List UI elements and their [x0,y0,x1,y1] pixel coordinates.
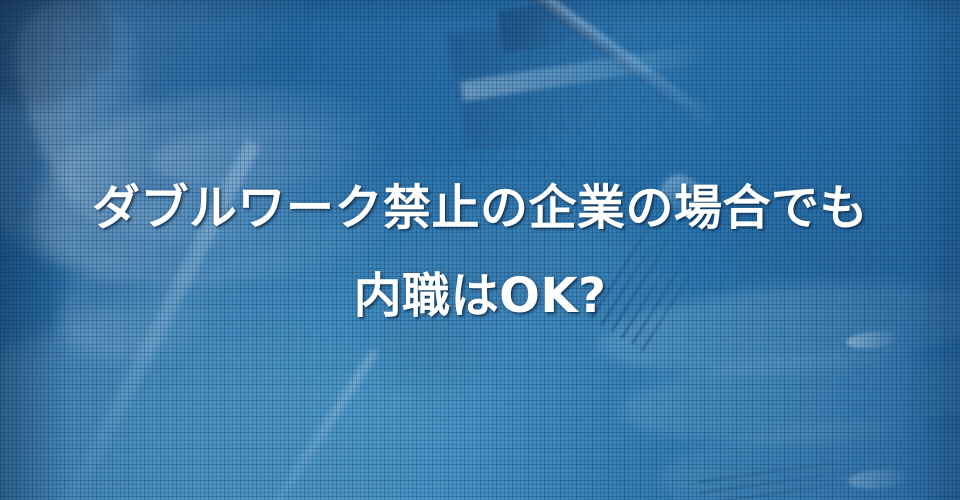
headline-line-2: 内職はOK? [354,272,607,320]
headline-line-1: ダブルワーク禁止の企業の場合でも [92,184,868,232]
headline-block: ダブルワーク禁止の企業の場合でも 内職はOK? [0,0,960,500]
article-header-banner: ダブルワーク禁止の企業の場合でも 内職はOK? [0,0,960,500]
